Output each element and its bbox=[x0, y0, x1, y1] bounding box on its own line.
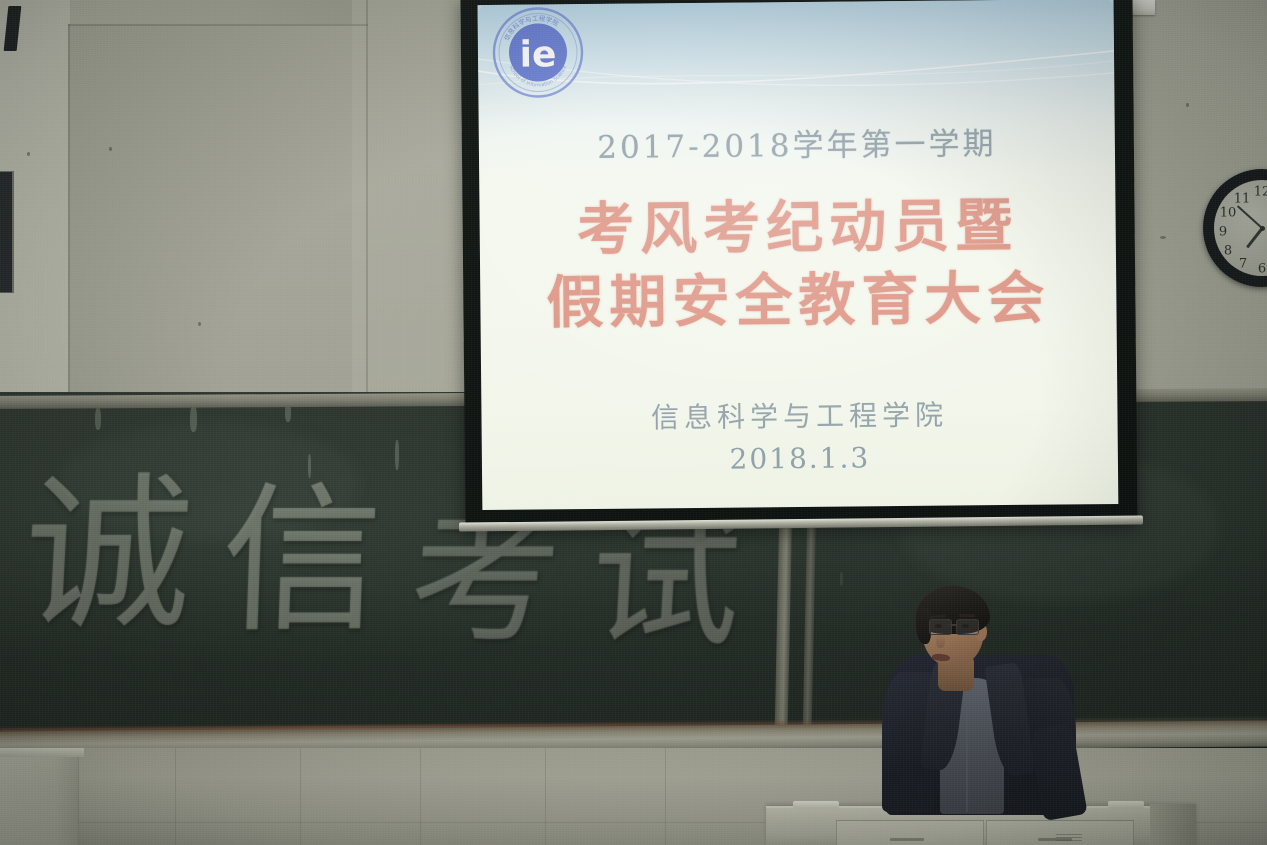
chalk-char: 诚 bbox=[20, 471, 197, 639]
clock-face: 12 11 10 9 8 7 6 bbox=[1214, 180, 1267, 276]
podium-drawer[interactable] bbox=[836, 820, 984, 845]
clock-numeral: 10 bbox=[1220, 206, 1237, 221]
podium-drawer-handle[interactable] bbox=[890, 838, 924, 841]
tile-grout-line bbox=[545, 748, 546, 845]
svg-text:ie: ie bbox=[519, 34, 556, 75]
clock-numeral: 6 bbox=[1258, 262, 1266, 277]
slide-organization: 信息科学与工程学院 bbox=[481, 392, 1117, 438]
podium-vent bbox=[1056, 834, 1082, 842]
podium-cap-left bbox=[793, 801, 839, 809]
slide-date: 2018.1.3 bbox=[482, 439, 1118, 478]
tile-grout-line bbox=[300, 748, 301, 845]
wall-seam bbox=[68, 24, 368, 26]
projector-screen: ie 信息科学与工程学院 School of Information Scien… bbox=[460, 0, 1137, 531]
lecture-hall-scene: 诚 信 考 试 bbox=[0, 0, 1267, 845]
blackboard-fleck bbox=[190, 406, 197, 432]
wall-panel-center bbox=[68, 24, 368, 422]
presenter-sweater-placket bbox=[966, 700, 968, 812]
clock-numeral: 7 bbox=[1239, 257, 1247, 272]
chalk-char: 信 bbox=[219, 481, 385, 641]
wall-speck bbox=[109, 147, 112, 151]
clock-numeral: 11 bbox=[1234, 192, 1251, 207]
blackboard-fleck bbox=[840, 572, 843, 586]
tile-grout-line bbox=[665, 748, 666, 845]
clock-numeral: 8 bbox=[1224, 244, 1232, 259]
clock-center-pin bbox=[1260, 226, 1265, 231]
presenter-nose bbox=[936, 634, 945, 648]
slide-title-line-2: 假期安全教育大会 bbox=[480, 262, 1117, 341]
podium-right-side bbox=[1150, 804, 1196, 845]
wall-speck bbox=[27, 152, 30, 156]
presenter-eyebrow-right bbox=[959, 614, 975, 618]
wall-panel-right bbox=[352, 0, 472, 420]
presenter-eye-right bbox=[962, 624, 969, 628]
tile-pilaster-cap bbox=[0, 748, 84, 757]
wall-sign-frame bbox=[0, 171, 14, 293]
tile-pilaster bbox=[0, 752, 79, 845]
clock-numeral: 12 bbox=[1254, 185, 1267, 200]
college-emblem-icon: ie 信息科学与工程学院 School of Information Scien… bbox=[492, 6, 585, 99]
wall-speck bbox=[1186, 103, 1189, 107]
slide-title: 考风考纪动员暨 假期安全教育大会 bbox=[479, 189, 1116, 341]
wall-speck bbox=[198, 322, 201, 326]
wall-speck bbox=[1160, 236, 1166, 239]
tile-grout-line bbox=[420, 748, 421, 845]
clock-numeral: 9 bbox=[1219, 225, 1227, 240]
clock-minute-hand bbox=[1237, 205, 1263, 229]
slide-title-line-1: 考风考纪动员暨 bbox=[479, 189, 1116, 268]
wall-seam bbox=[366, 0, 368, 420]
wall-seam bbox=[68, 24, 70, 422]
slide-surface: ie 信息科学与工程学院 School of Information Scien… bbox=[478, 0, 1119, 510]
blackboard-fleck bbox=[95, 408, 101, 430]
slide-term-line: 2017-2018学年第一学期 bbox=[479, 117, 1115, 168]
podium-cap-right bbox=[1108, 801, 1144, 809]
tile-grout-line bbox=[175, 748, 176, 845]
presenter-eye-left bbox=[935, 624, 942, 628]
